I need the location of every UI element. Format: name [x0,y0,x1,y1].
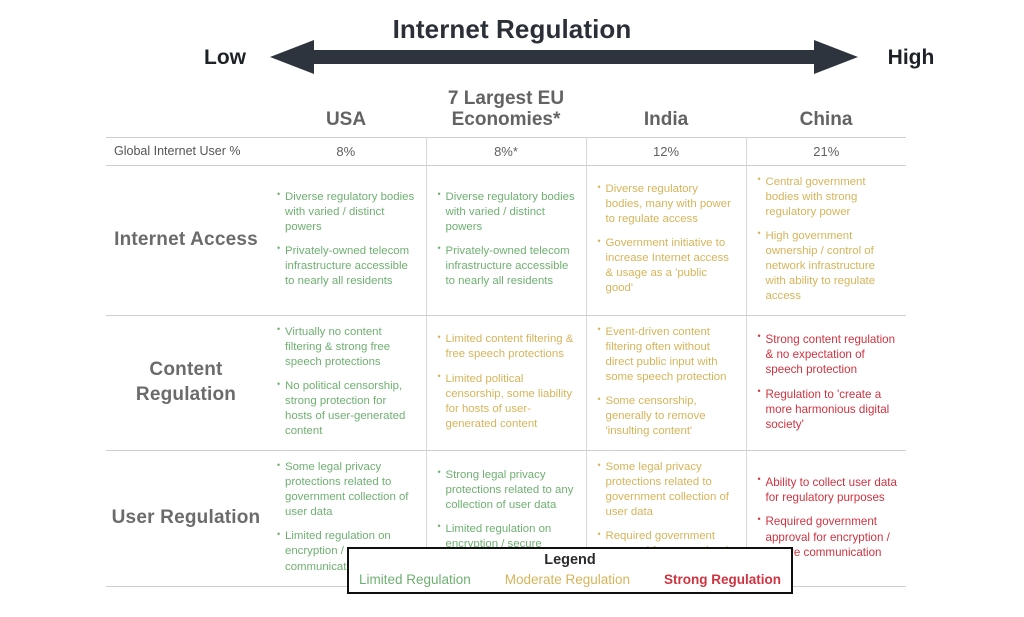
axis-high-label: High [866,46,956,70]
bullet-list: Limited content filtering & free speech … [427,332,586,431]
list-item: Privately-owned telecom infrastructure a… [438,244,577,289]
bullet-list: Diverse regulatory bodies with varied / … [427,190,586,289]
list-item: Some censorship, generally to remove 'in… [598,394,737,439]
cell-content-regulation-usa: Virtually no content filtering & strong … [266,315,426,450]
comparison-table: USA 7 Largest EU Economies* India China … [106,86,906,587]
list-item: Some legal privacy protections related t… [277,460,417,520]
cell-internet-access-eu: Diverse regulatory bodies with varied / … [426,165,586,315]
list-item: Some legal privacy protections related t… [598,460,737,520]
list-item: Diverse regulatory bodies with varied / … [438,190,577,235]
list-item: Central government bodies with strong re… [758,175,898,220]
bullet-list: Diverse regulatory bodies, many with pow… [587,182,746,296]
list-item: Ability to collect user data for regulat… [758,475,898,506]
stat-value-usa: 8% [266,137,426,165]
double-arrow-icon [270,40,858,74]
bullet-list: Diverse regulatory bodies with varied / … [266,190,426,289]
bullet-list: Virtually no content filtering & strong … [266,325,426,439]
list-item: No political censorship, strong protecti… [277,379,417,439]
column-header-india: India [586,86,746,137]
list-item: Virtually no content filtering & strong … [277,325,417,370]
bullet-list: Event-driven content filtering often wit… [587,325,746,439]
column-header-china: China [746,86,906,137]
list-item: Limited content filtering & free speech … [438,332,577,362]
legend-item-limited: Limited Regulation [359,572,471,588]
list-item: High government ownership / control of n… [758,229,898,304]
table-header-row: USA 7 Largest EU Economies* India China [106,86,906,137]
cell-content-regulation-eu: Limited content filtering & free speech … [426,315,586,450]
list-item: Diverse regulatory bodies, many with pow… [598,182,737,227]
list-item: Privately-owned telecom infrastructure a… [277,244,417,289]
list-item: Event-driven content filtering often wit… [598,325,737,385]
stat-row-label: Global Internet User % [106,137,266,165]
bullet-list: Strong content regulation & no expectati… [747,332,907,433]
column-header-usa: USA [266,86,426,137]
list-item: Strong legal privacy protections related… [438,468,577,513]
column-header-eu: 7 Largest EU Economies* [426,86,586,137]
list-item: Strong content regulation & no expectati… [758,332,898,378]
axis-low-label: Low [186,46,264,70]
row-label-content-regulation: Content Regulation [106,315,266,450]
legend-title: Legend [349,552,791,569]
table-row: Internet Access Diverse regulatory bodie… [106,165,906,315]
global-user-percent-row: Global Internet User % 8% 8%* 12% 21% [106,137,906,165]
legend: Legend Limited Regulation Moderate Regul… [347,547,793,594]
cell-content-regulation-india: Event-driven content filtering often wit… [586,315,746,450]
list-item: Regulation to 'create a more harmonious … [758,387,898,433]
stat-value-india: 12% [586,137,746,165]
legend-item-strong: Strong Regulation [664,572,781,588]
stat-value-china: 21% [746,137,906,165]
row-label-user-regulation: User Regulation [106,451,266,586]
bullet-list: Central government bodies with strong re… [747,175,907,304]
list-item: Diverse regulatory bodies with varied / … [277,190,417,235]
regulation-matrix: USA 7 Largest EU Economies* India China … [106,86,906,587]
cell-internet-access-usa: Diverse regulatory bodies with varied / … [266,165,426,315]
cell-internet-access-india: Diverse regulatory bodies, many with pow… [586,165,746,315]
list-item: Government initiative to increase Intern… [598,236,737,296]
cell-internet-access-china: Central government bodies with strong re… [746,165,906,315]
row-label-internet-access: Internet Access [106,165,266,315]
cell-content-regulation-china: Strong content regulation & no expectati… [746,315,906,450]
legend-item-moderate: Moderate Regulation [505,572,630,588]
table-row: Content Regulation Virtually no content … [106,315,906,450]
axis-band: Internet Regulation Low High [0,0,1024,82]
stat-value-eu: 8%* [426,137,586,165]
legend-items: Limited Regulation Moderate Regulation S… [349,569,791,588]
list-item: Limited political censorship, some liabi… [438,372,577,432]
header-spacer [106,86,266,137]
